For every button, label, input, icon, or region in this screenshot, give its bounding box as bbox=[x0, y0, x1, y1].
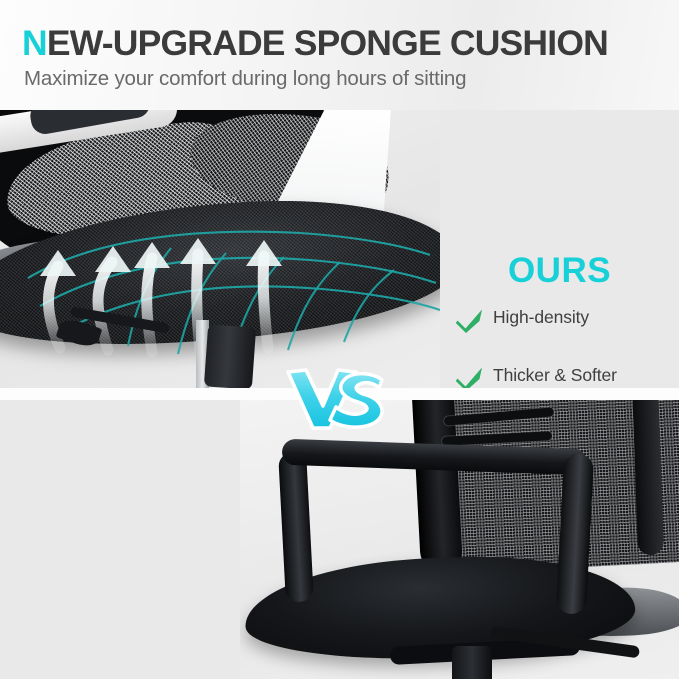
infographic-page: NEW-UPGRADE SPONGE CUSHION Maximize your… bbox=[0, 0, 679, 679]
list-item: Thicker & Softer bbox=[455, 364, 679, 388]
check-icon bbox=[455, 366, 485, 388]
gas-cylinder bbox=[452, 646, 492, 679]
header-band: NEW-UPGRADE SPONGE CUSHION Maximize your… bbox=[0, 0, 679, 110]
list-item-label: Thicker & Softer bbox=[493, 364, 617, 386]
armrest-post-left bbox=[278, 451, 314, 602]
ours-panel: OURS High-density Thicker & Softer Breat… bbox=[0, 110, 679, 388]
ours-chair-photo bbox=[0, 110, 440, 388]
page-title: NEW-UPGRADE SPONGE CUSHION bbox=[22, 22, 608, 64]
armrest-post-right bbox=[556, 453, 594, 614]
list-item-label: High-density bbox=[493, 306, 589, 328]
page-title-accent-letter: N bbox=[22, 23, 47, 63]
ours-heading: OURS bbox=[440, 251, 679, 291]
cylinder-cover bbox=[204, 324, 256, 388]
vs-badge bbox=[286, 368, 390, 430]
support-rib bbox=[444, 407, 554, 426]
check-icon bbox=[455, 308, 485, 339]
armrest-top-bar bbox=[282, 439, 588, 476]
armrest bbox=[282, 444, 602, 614]
list-item: High-density bbox=[455, 306, 679, 339]
page-subtitle: Maximize your comfort during long hours … bbox=[24, 67, 466, 91]
backrest-frame-right bbox=[632, 400, 664, 555]
others-panel: OTHERS Easy to deform Thin & Hard No mes… bbox=[0, 400, 679, 679]
page-title-rest: EW-UPGRADE SPONGE CUSHION bbox=[47, 23, 608, 63]
ours-feature-list: High-density Thicker & Softer Breathable… bbox=[455, 306, 679, 388]
others-chair-photo bbox=[240, 400, 679, 679]
